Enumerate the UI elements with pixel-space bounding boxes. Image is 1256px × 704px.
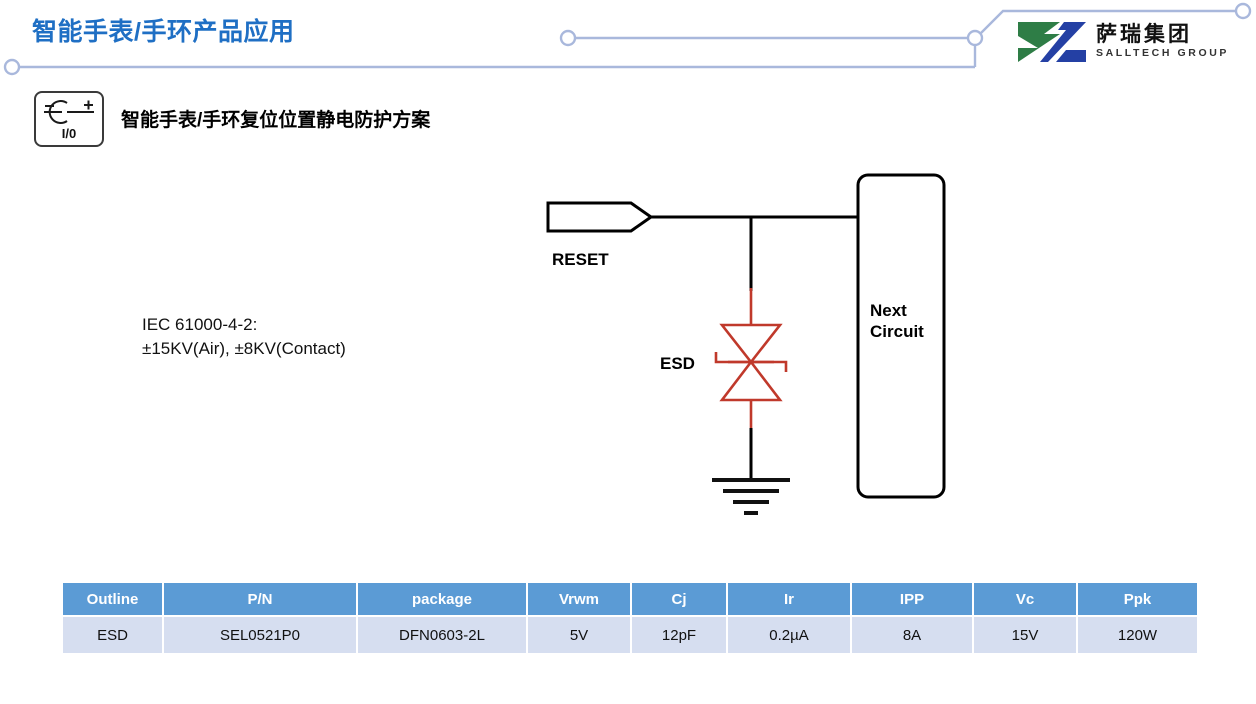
iec-level-line: ±15KV(Air), ±8KV(Contact) <box>142 337 346 361</box>
table-header-cell: Ppk <box>1077 583 1197 616</box>
table-row: ESD SEL0521P0 DFN0603-2L 5V 12pF 0.2µA 8… <box>63 616 1197 653</box>
esd-label: ESD <box>660 354 695 373</box>
tvs-diode-symbol <box>716 288 786 432</box>
logo-company-name-en: SALLTECH GROUP <box>1096 47 1229 60</box>
table-header-cell: P/N <box>163 583 357 616</box>
salltech-logo-mark <box>1014 20 1090 64</box>
table-cell-vc: 15V <box>973 616 1077 653</box>
table-cell-outline: ESD <box>63 616 163 653</box>
io-icon-label: I/0 <box>62 126 76 141</box>
company-logo: 萨瑞集团 SALLTECH GROUP <box>1014 14 1244 70</box>
section-subtitle: 智能手表/手环复位位置静电防护方案 <box>121 105 430 132</box>
table-header-cell: Vrwm <box>527 583 631 616</box>
esd-protection-circuit-diagram: RESET ESD Next Circuit <box>520 160 980 520</box>
table-header-cell: Vc <box>973 583 1077 616</box>
decoration-node-right <box>968 31 982 45</box>
table-header-cell: package <box>357 583 527 616</box>
table-header-cell: Cj <box>631 583 727 616</box>
next-circuit-label-line1: Next <box>870 301 907 320</box>
io-icon: I/0 <box>33 90 105 148</box>
table-header-cell: Ir <box>727 583 851 616</box>
page-title: 智能手表/手环产品应用 <box>32 12 294 48</box>
decoration-node-left <box>5 60 19 74</box>
table-cell-ppk: 120W <box>1077 616 1197 653</box>
table-cell-cj: 12pF <box>631 616 727 653</box>
reset-signal-flag <box>548 203 651 231</box>
ground-symbol <box>712 480 790 513</box>
decoration-node-mid <box>561 31 575 45</box>
iec-spec-note: IEC 61000-4-2: ±15KV(Air), ±8KV(Contact) <box>142 313 346 361</box>
table-cell-vrwm: 5V <box>527 616 631 653</box>
table-cell-package: DFN0603-2L <box>357 616 527 653</box>
table-header-cell: IPP <box>851 583 973 616</box>
iec-standard-line: IEC 61000-4-2: <box>142 313 346 337</box>
table-cell-pn: SEL0521P0 <box>163 616 357 653</box>
reset-label: RESET <box>552 250 609 269</box>
logo-text-group: 萨瑞集团 SALLTECH GROUP <box>1096 24 1229 60</box>
logo-company-name-cn: 萨瑞集团 <box>1096 24 1229 46</box>
table-cell-ipp: 8A <box>851 616 973 653</box>
next-circuit-label-line2: Circuit <box>870 322 924 341</box>
product-spec-table: Outline P/N package Vrwm Cj Ir IPP Vc Pp… <box>63 583 1197 653</box>
table-header-row: Outline P/N package Vrwm Cj Ir IPP Vc Pp… <box>63 583 1197 616</box>
table-header-cell: Outline <box>63 583 163 616</box>
table-cell-ir: 0.2µA <box>727 616 851 653</box>
